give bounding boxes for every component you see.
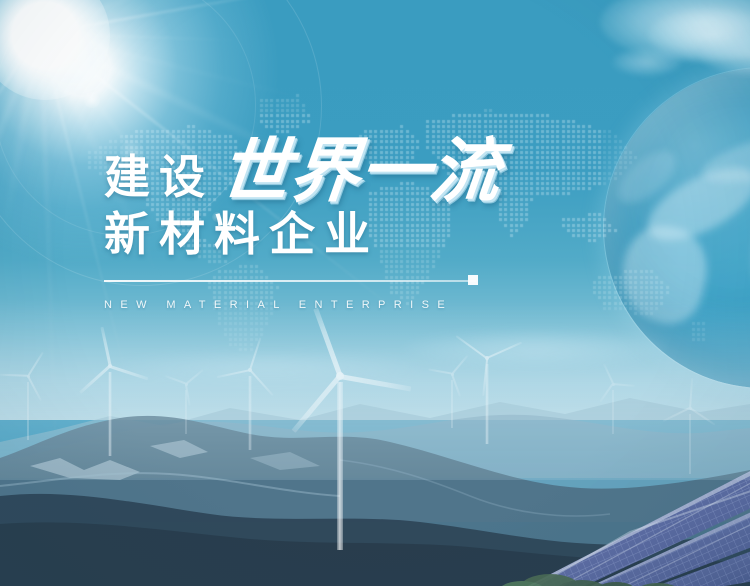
mountain-range-icon <box>0 400 750 586</box>
hero-banner: 建设 世界一流 新材料企业 NEW MATERIAL ENTERPRISE <box>0 0 750 586</box>
divider <box>104 280 476 282</box>
headline-text: 世界一流 <box>216 136 503 206</box>
kicker-text: 建设 <box>104 154 214 206</box>
turbine-mast <box>689 414 691 474</box>
divider-cap-icon <box>468 275 478 285</box>
mountain-range-icon <box>0 470 750 586</box>
subtitle-text: NEW MATERIAL ENTERPRISE <box>104 299 664 311</box>
headline-line-2: 新材料企业 <box>104 210 664 258</box>
headline-line-1: 建设 世界一流 <box>104 128 664 206</box>
solar-panel-array-icon <box>430 392 750 586</box>
headline-block: 建设 世界一流 新材料企业 NEW MATERIAL ENTERPRISE <box>104 128 664 311</box>
